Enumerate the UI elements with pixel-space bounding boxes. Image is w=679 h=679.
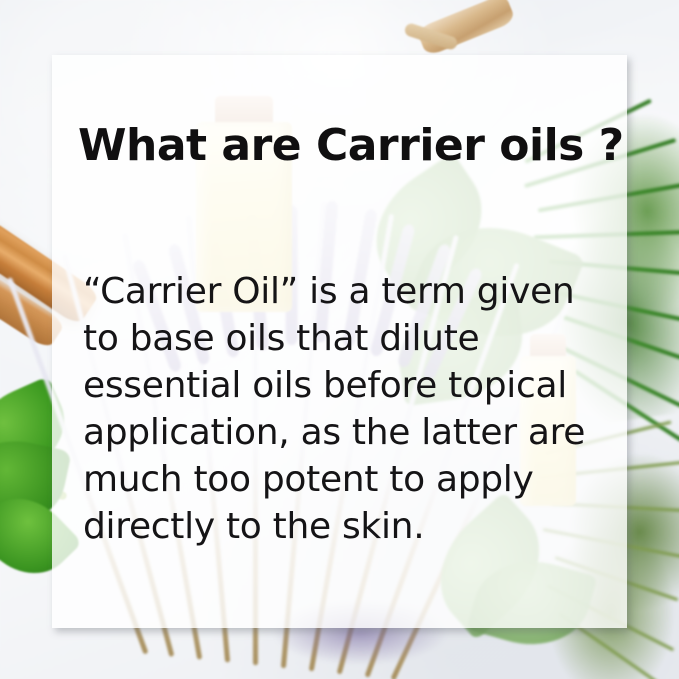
body-paragraph: “Carrier Oil” is a term given to base oi… bbox=[83, 268, 613, 550]
infographic-canvas: What are Carrier oils ? “Carrier Oil” is… bbox=[0, 0, 679, 679]
body-line: much too potent to apply bbox=[83, 456, 613, 503]
page-title: What are Carrier oils ? bbox=[78, 124, 624, 168]
body-line: directly to the skin. bbox=[83, 503, 613, 550]
body-line: “Carrier Oil” is a term given bbox=[83, 268, 613, 315]
body-line: to base oils that dilute bbox=[83, 315, 613, 362]
body-line: application, as the latter are bbox=[83, 409, 613, 456]
body-line: essential oils before topical bbox=[83, 362, 613, 409]
